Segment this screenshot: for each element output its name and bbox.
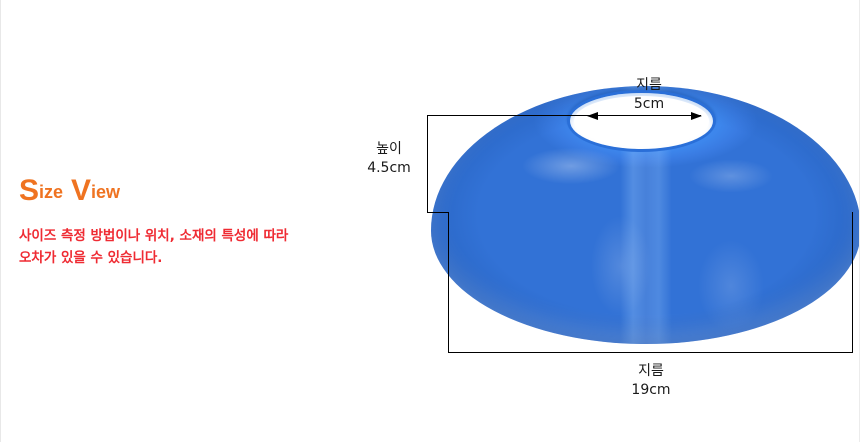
size-disclaimer: 사이즈 측정 방법이나 위치, 소재의 특성에 따라 오차가 있을 수 있습니다… bbox=[19, 226, 359, 270]
height-value: 4.5cm bbox=[356, 159, 422, 178]
title-rest-size: ize bbox=[39, 182, 63, 202]
page-title: SizeView bbox=[19, 176, 359, 206]
top-diameter-arrowhead-left bbox=[587, 112, 598, 120]
top-diameter-label-text: 지름 bbox=[636, 77, 662, 93]
size-view-panel: SizeView 사이즈 측정 방법이나 위치, 소재의 특성에 따라 오차가 … bbox=[0, 0, 860, 442]
height-label-text: 높이 bbox=[376, 141, 402, 157]
title-capital-s: S bbox=[19, 174, 39, 207]
top-diameter-line bbox=[597, 115, 701, 116]
product-photo bbox=[431, 80, 860, 360]
height-label: 높이 4.5cm bbox=[356, 140, 422, 178]
top-diameter-leader-line bbox=[427, 115, 599, 116]
size-disclaimer-line-2: 오차가 있을 수 있습니다. bbox=[19, 248, 359, 270]
title-capital-v: V bbox=[71, 174, 91, 207]
bottom-diameter-bracket-base bbox=[448, 352, 853, 353]
top-diameter-value: 5cm bbox=[604, 95, 694, 114]
size-disclaimer-line-1: 사이즈 측정 방법이나 위치, 소재의 특성에 따라 bbox=[19, 226, 359, 248]
size-info-block: SizeView 사이즈 측정 방법이나 위치, 소재의 특성에 따라 오차가 … bbox=[19, 176, 359, 270]
top-diameter-label: 지름 5cm bbox=[604, 76, 694, 114]
bottom-diameter-value: 19cm bbox=[606, 381, 696, 400]
bottom-diameter-bracket-right bbox=[852, 212, 853, 353]
bottom-diameter-bracket-left bbox=[448, 212, 449, 353]
height-bracket-vertical bbox=[427, 115, 428, 213]
bottom-diameter-label-text: 지름 bbox=[638, 363, 664, 379]
bottom-diameter-label: 지름 19cm bbox=[606, 362, 696, 400]
height-bracket-bottom-tick bbox=[427, 212, 449, 213]
title-rest-view: iew bbox=[91, 182, 120, 202]
